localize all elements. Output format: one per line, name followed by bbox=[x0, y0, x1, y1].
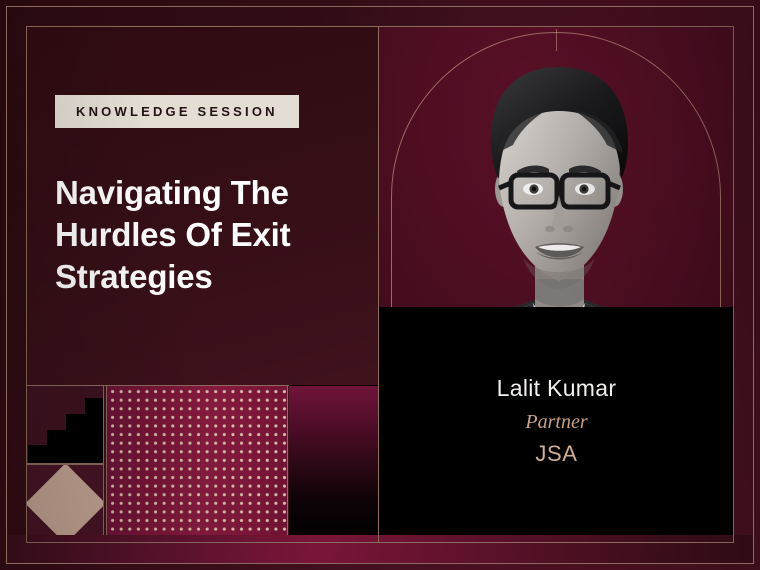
knowledge-session-badge: KNOWLEDGE SESSION bbox=[55, 95, 299, 128]
staircase-icon bbox=[27, 386, 104, 464]
diamond-cell bbox=[26, 464, 104, 543]
badge-label: KNOWLEDGE SESSION bbox=[76, 104, 278, 119]
title-line-1: Navigating The bbox=[55, 172, 345, 214]
speaker-organization: JSA bbox=[379, 439, 734, 470]
speaker-role: Partner bbox=[379, 407, 734, 437]
knowledge-session-poster: KNOWLEDGE SESSION Navigating The Hurdles… bbox=[0, 0, 760, 570]
speaker-info: Lalit Kumar Partner JSA bbox=[379, 374, 734, 470]
gradient-block-cell bbox=[289, 385, 379, 543]
panel-divider bbox=[378, 27, 379, 543]
arch-apex-tick-icon bbox=[556, 29, 557, 51]
title-line-2: Hurdles Of Exit bbox=[55, 214, 345, 256]
right-panel: Lalit Kumar Partner JSA bbox=[379, 27, 734, 542]
title-line-3: Strategies bbox=[55, 256, 345, 298]
page-title: Navigating The Hurdles Of Exit Strategie… bbox=[55, 172, 345, 299]
speaker-name: Lalit Kumar bbox=[379, 374, 734, 403]
bottom-glow-band bbox=[7, 535, 753, 563]
staircase-cell bbox=[26, 385, 104, 464]
diamond-icon bbox=[26, 464, 104, 543]
dot-grid-cell bbox=[106, 385, 288, 543]
decorative-strip bbox=[26, 385, 379, 543]
